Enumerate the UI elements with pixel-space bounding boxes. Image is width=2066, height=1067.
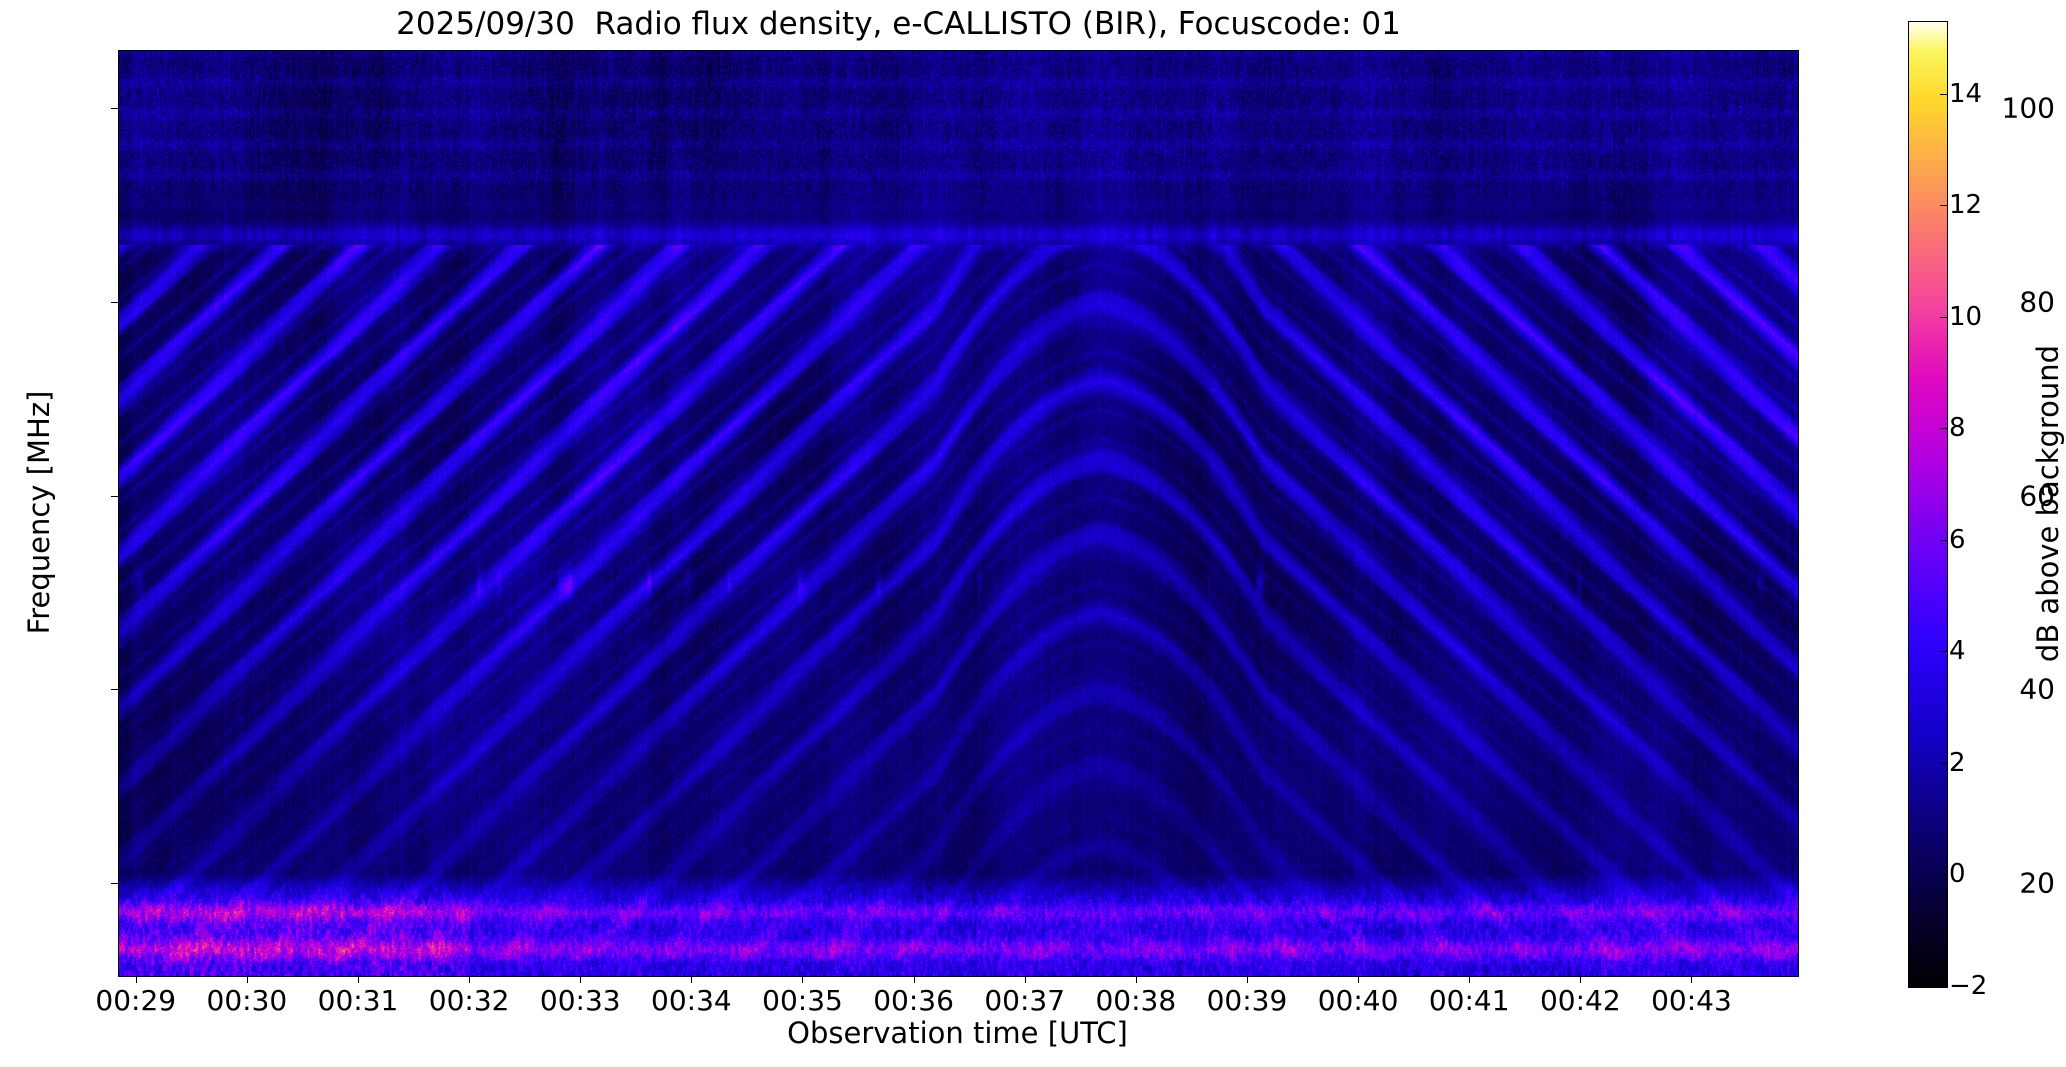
- x-tick-label: 00:36: [873, 984, 954, 1017]
- colorbar-gradient: [1909, 22, 1947, 987]
- x-tick-label: 00:35: [762, 984, 843, 1017]
- y-tick-mark: [111, 689, 118, 690]
- x-tick-mark: [1580, 976, 1581, 983]
- colorbar-tick-mark: [1940, 94, 1948, 95]
- colorbar-tick-mark: [1940, 317, 1948, 318]
- colorbar-tick-label: 14: [1949, 79, 1982, 109]
- y-tick-mark: [111, 108, 118, 109]
- colorbar[interactable]: [1908, 21, 1948, 988]
- colorbar-tick-mark: [1940, 763, 1948, 764]
- x-tick-mark: [914, 976, 915, 983]
- x-tick-label: 00:32: [429, 984, 510, 1017]
- colorbar-tick-label: 12: [1949, 190, 1982, 220]
- x-tick-label: 00:33: [540, 984, 621, 1017]
- colorbar-tick-label: 6: [1949, 525, 1966, 555]
- x-tick-mark: [1025, 976, 1026, 983]
- x-tick-mark: [691, 976, 692, 983]
- colorbar-tick-mark: [1940, 540, 1948, 541]
- colorbar-tick-mark: [1940, 874, 1948, 875]
- x-tick-label: 00:29: [95, 984, 176, 1017]
- x-tick-label: 00:31: [318, 984, 399, 1017]
- x-tick-mark: [802, 976, 803, 983]
- y-tick-mark: [111, 496, 118, 497]
- x-tick-label: 00:37: [984, 984, 1065, 1017]
- figure-canvas: 2025/09/30 Radio flux density, e-CALLIST…: [0, 0, 2066, 1067]
- spectrogram-image: [119, 51, 1798, 976]
- x-tick-mark: [1136, 976, 1137, 983]
- colorbar-tick-label: 4: [1949, 636, 1966, 666]
- colorbar-tick-label: 10: [1949, 302, 1982, 332]
- colorbar-tick-mark: [1940, 986, 1948, 987]
- x-tick-label: 00:34: [651, 984, 732, 1017]
- x-tick-label: 00:40: [1318, 984, 1399, 1017]
- x-tick-label: 00:41: [1429, 984, 1510, 1017]
- colorbar-tick-label: 0: [1949, 859, 1966, 889]
- colorbar-tick-mark: [1940, 651, 1948, 652]
- x-tick-mark: [1469, 976, 1470, 983]
- x-tick-mark: [1358, 976, 1359, 983]
- x-tick-mark: [247, 976, 248, 983]
- colorbar-tick-mark: [1940, 428, 1948, 429]
- x-axis-label: Observation time [UTC]: [118, 1016, 1797, 1050]
- x-tick-label: 00:43: [1651, 984, 1732, 1017]
- x-tick-mark: [1691, 976, 1692, 983]
- x-tick-mark: [1247, 976, 1248, 983]
- x-tick-label: 00:38: [1095, 984, 1176, 1017]
- x-tick-mark: [580, 976, 581, 983]
- colorbar-tick-mark: [1940, 205, 1948, 206]
- y-tick-mark: [111, 302, 118, 303]
- colorbar-label: dB above background: [2031, 21, 2066, 986]
- y-tick-mark: [111, 883, 118, 884]
- x-tick-label: 00:30: [207, 984, 288, 1017]
- x-tick-mark: [136, 976, 137, 983]
- x-tick-label: 00:42: [1540, 984, 1621, 1017]
- colorbar-tick-label: 8: [1949, 413, 1966, 443]
- y-axis-label: Frequency [MHz]: [22, 50, 62, 975]
- spectrogram-axes[interactable]: [118, 50, 1799, 977]
- colorbar-tick-label: −2: [1949, 971, 1987, 1001]
- x-tick-label: 00:39: [1207, 984, 1288, 1017]
- colorbar-tick-label: 2: [1949, 748, 1966, 778]
- x-tick-mark: [358, 976, 359, 983]
- page-title: 2025/09/30 Radio flux density, e-CALLIST…: [0, 6, 1797, 42]
- x-tick-mark: [469, 976, 470, 983]
